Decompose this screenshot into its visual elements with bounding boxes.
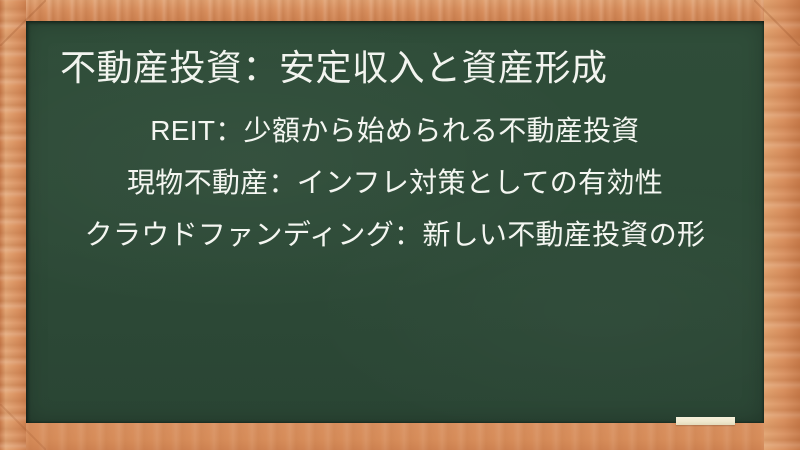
frame-ledge-bottom <box>0 423 800 450</box>
chalkboard-slide: 不動産投資：安定収入と資産形成 REIT：少額から始められる不動産投資 現物不動… <box>0 0 800 450</box>
slide-bullet-1: REIT：少額から始められる不動産投資 <box>42 105 748 157</box>
slide-title: 不動産投資：安定収入と資産形成 <box>60 45 760 91</box>
slide-bullet-2: 現物不動産：インフレ対策としての有効性 <box>42 157 748 209</box>
frame-stile-left <box>0 0 26 450</box>
slide-bullet-3: クラウドファンディング：新しい不動産投資の形 <box>42 209 748 261</box>
chalk-stick <box>676 417 735 425</box>
chalkboard-surface: 不動産投資：安定収入と資産形成 REIT：少額から始められる不動産投資 現物不動… <box>26 21 764 423</box>
frame-rail-top <box>0 0 800 21</box>
slide-bullet-list: REIT：少額から始められる不動産投資 現物不動産：インフレ対策としての有効性 … <box>42 105 748 261</box>
frame-stile-right <box>764 0 800 450</box>
